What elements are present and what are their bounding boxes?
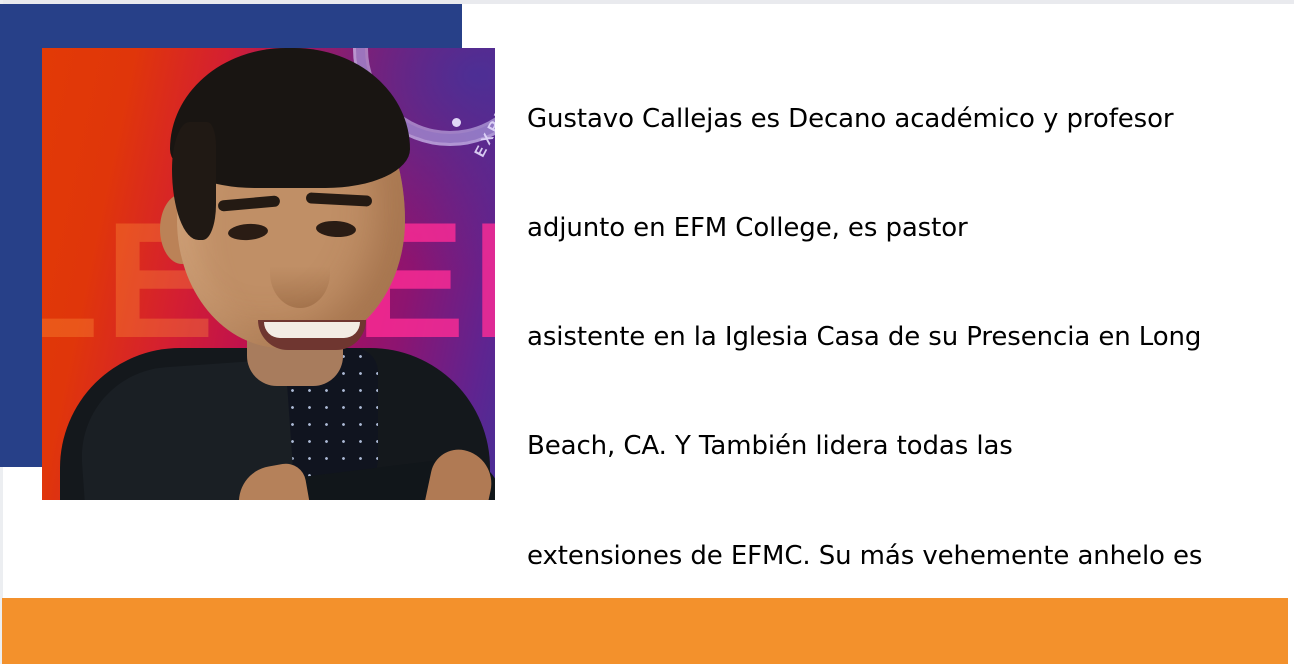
orange-footer-bar bbox=[2, 598, 1288, 664]
bio-line: asistente en la Iglesia Casa de su Prese… bbox=[527, 319, 1227, 355]
bio-line: Gustavo Callejas es Decano académico y p… bbox=[527, 101, 1227, 137]
teeth bbox=[264, 322, 360, 338]
bio-line: adjunto en EFM College, es pastor bbox=[527, 210, 1227, 246]
bio-text-block: Gustavo Callejas es Decano académico y p… bbox=[527, 28, 1227, 664]
bio-line: Beach, CA. Y También lidera todas las bbox=[527, 428, 1227, 464]
portrait-photo: LEGEND EXPE bbox=[42, 48, 495, 500]
bio-line: extensiones de EFMC. Su más vehemente an… bbox=[527, 538, 1227, 574]
nose bbox=[270, 238, 330, 308]
slide-canvas: LEGEND EXPE Gustavo Callejas es Decano a… bbox=[0, 0, 1294, 664]
person-figure bbox=[42, 48, 495, 500]
mouth bbox=[258, 320, 366, 350]
